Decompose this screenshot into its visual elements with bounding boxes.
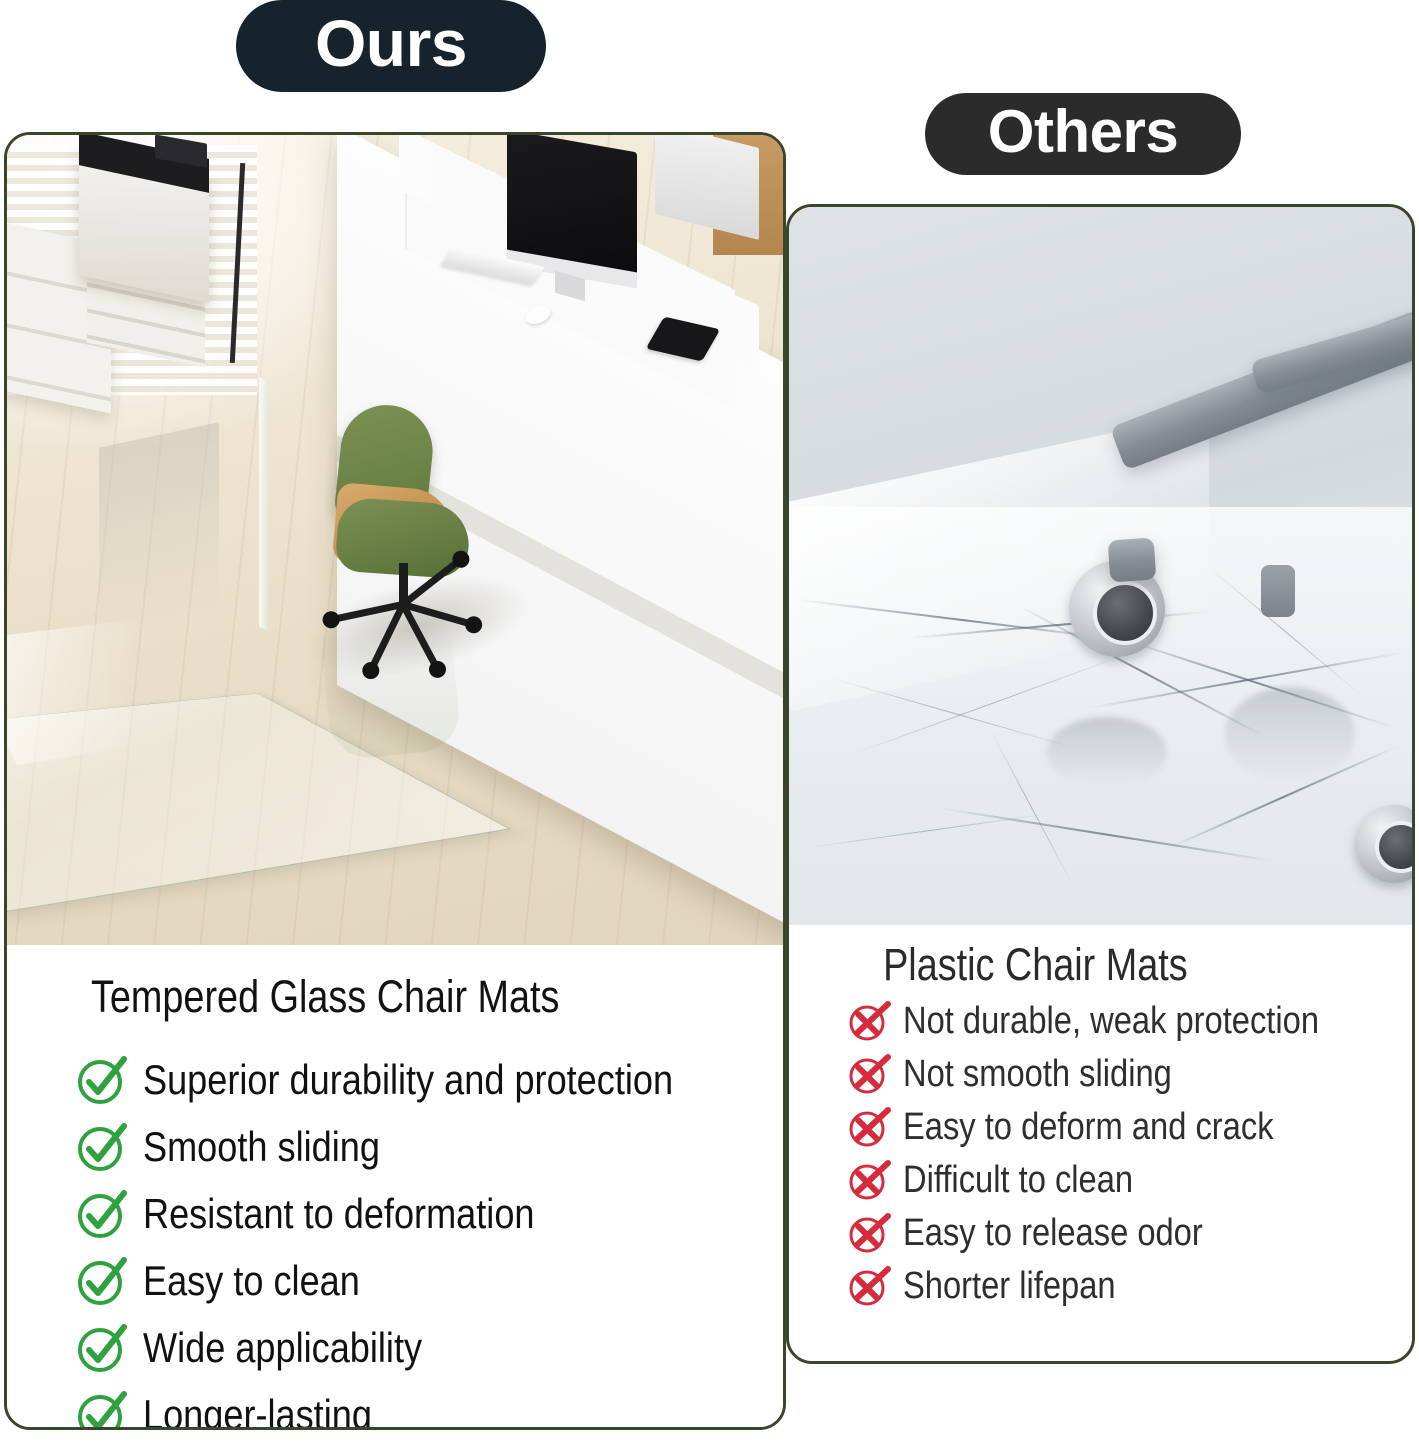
list-item: Wide applicability (75, 1321, 783, 1375)
list-item: Easy to release odor (847, 1211, 1412, 1255)
feature-label: Resistant to deformation (143, 1190, 535, 1238)
feature-label: Easy to release odor (903, 1212, 1203, 1255)
check-circle-icon (75, 1254, 129, 1308)
feature-label: Not durable, weak protection (903, 1000, 1319, 1043)
check-circle-icon (75, 1321, 129, 1375)
list-item: Superior durability and protection (75, 1053, 783, 1107)
panel-ours: Tempered Glass Chair Mats Superior durab… (4, 132, 786, 1430)
ours-feature-list: Superior durability and protection Smoot… (7, 1023, 783, 1430)
list-item: Shorter lifepan (847, 1264, 1412, 1308)
feature-label: Easy to clean (143, 1257, 360, 1305)
cross-circle-icon (847, 1158, 891, 1202)
ours-title: Tempered Glass Chair Mats (7, 945, 659, 1023)
cross-circle-icon (847, 1052, 891, 1096)
photo-tempered-glass-mat (7, 135, 783, 945)
check-circle-icon (75, 1053, 129, 1107)
comparison-infographic: Ours Others (0, 0, 1419, 1447)
feature-label: Wide applicability (143, 1324, 422, 1372)
list-item: Difficult to clean (847, 1158, 1412, 1202)
list-item: Easy to deform and crack (847, 1105, 1412, 1149)
others-title: Plastic Chair Mats (789, 925, 1312, 991)
badge-others: Others (925, 93, 1241, 175)
cross-circle-icon (847, 1211, 891, 1255)
list-item: Not durable, weak protection (847, 999, 1412, 1043)
photo-plastic-mat (789, 207, 1412, 925)
list-item: Smooth sliding (75, 1120, 783, 1174)
cross-circle-icon (847, 1264, 891, 1308)
feature-label: Superior durability and protection (143, 1056, 673, 1104)
list-item: Easy to clean (75, 1254, 783, 1308)
cross-circle-icon (847, 999, 891, 1043)
feature-label: Smooth sliding (143, 1123, 380, 1171)
ours-panel-body: Tempered Glass Chair Mats Superior durab… (7, 945, 783, 1430)
feature-label: Shorter lifepan (903, 1265, 1116, 1308)
check-circle-icon (75, 1187, 129, 1241)
check-circle-icon (75, 1120, 129, 1174)
others-feature-list: Not durable, weak protection Not smooth … (789, 991, 1412, 1308)
others-panel-body: Plastic Chair Mats Not durable, weak pro… (789, 925, 1412, 1308)
panel-others: Plastic Chair Mats Not durable, weak pro… (786, 204, 1415, 1364)
list-item: Resistant to deformation (75, 1187, 783, 1241)
feature-label: Longer-lasting (143, 1391, 372, 1430)
feature-label: Difficult to clean (903, 1159, 1133, 1202)
feature-label: Easy to deform and crack (903, 1106, 1274, 1149)
list-item: Longer-lasting (75, 1388, 783, 1430)
check-circle-icon (75, 1388, 129, 1430)
list-item: Not smooth sliding (847, 1052, 1412, 1096)
feature-label: Not smooth sliding (903, 1053, 1172, 1096)
badge-ours: Ours (236, 0, 546, 92)
cross-circle-icon (847, 1105, 891, 1149)
